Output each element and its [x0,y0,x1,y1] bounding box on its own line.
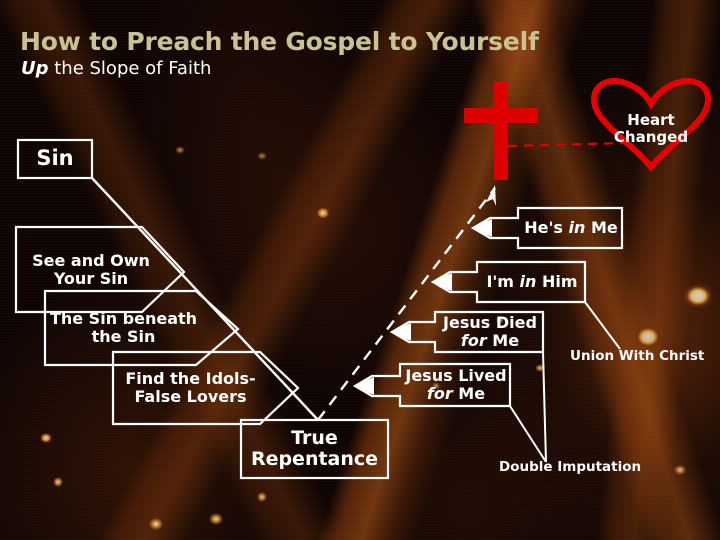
slope-arrowhead-icon [486,185,496,206]
arrowhead-im-in-him-icon [431,273,452,291]
subtitle-rest: the Slope of Faith [49,58,212,79]
arrowhead-jesus-died-for-me-icon [390,323,411,341]
page-subtitle: Up the Slope of Faith [21,58,211,79]
leader-line-double-imputation-a [543,352,546,462]
arrowhead-jesus-lived-for-me-icon [353,377,374,395]
node-label-true-repentance: TrueRepentance [241,420,388,478]
leader-line-union-with-christ [585,302,620,349]
node-label-jesus-lived-for-me: Jesus Livedfor Me [402,364,510,406]
annotation-double-imputation: Double Imputation [499,459,641,475]
subtitle-emphasis: Up [21,58,49,79]
node-label-jesus-died-for-me: Jesus Diedfor Me [437,312,543,352]
node-label-find-the-idols-false-lovers: Find the Idols-False Lovers [113,352,268,424]
node-label-sin: Sin [18,140,92,178]
node-label-im-in-him: I'm in Him [479,262,585,302]
slide-canvas: How to Preach the Gospel to Yourself Up … [0,0,720,540]
annotation-union-with-christ: Union With Christ [570,348,704,364]
leader-line-double-imputation-b [510,406,546,462]
node-label-hes-in-me: He's in Me [520,208,622,248]
cross-icon [464,82,538,180]
page-title: How to Preach the Gospel to Yourself [20,27,539,56]
arrowhead-hes-in-me-icon [471,219,492,237]
heart-changed-label: HeartChanged [600,95,702,146]
